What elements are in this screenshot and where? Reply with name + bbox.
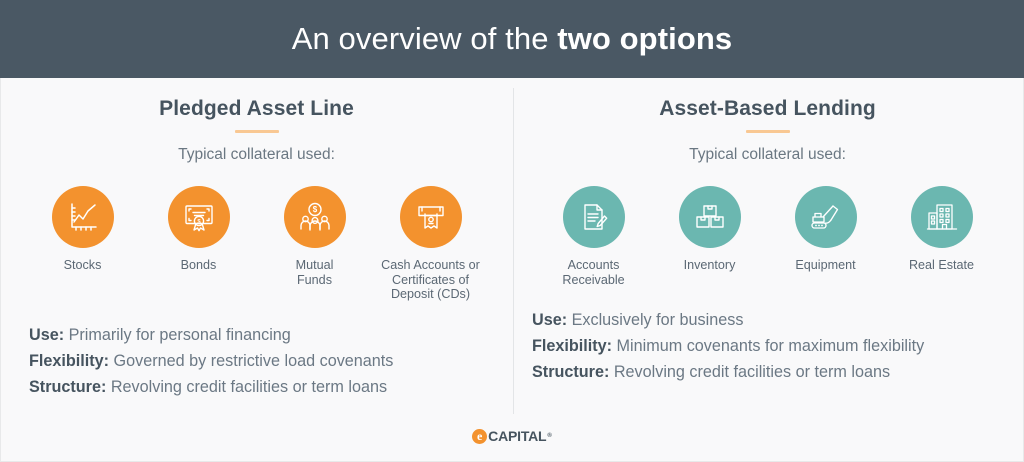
collateral-item-real-estate[interactable]: Real Estate: [884, 186, 1000, 273]
icon-row-right: Accounts Receivable: [512, 186, 1023, 287]
page-title: An overview of the two options: [292, 21, 733, 57]
column-divider: [513, 88, 514, 414]
fact-structure-left: Structure: Revolving credit facilities o…: [29, 374, 502, 400]
column-asset-based-lending: Asset-Based Lending Typical collateral u…: [512, 78, 1023, 400]
real-estate-buildings-icon: [911, 186, 973, 248]
collateral-item-equipment[interactable]: Equipment: [768, 186, 884, 273]
fact-key: Structure:: [29, 378, 106, 396]
collateral-label-inventory: Inventory: [648, 258, 772, 273]
fact-value: Minimum covenants for maximum flexibilit…: [612, 337, 924, 355]
accent-bar-right: [746, 130, 790, 133]
facts-left: Use: Primarily for personal financing Fl…: [1, 322, 512, 400]
fact-flexibility-right: Flexibility: Minimum covenants for maxim…: [532, 333, 1013, 359]
icon-row-left: Stocks $: [1, 186, 512, 302]
header-band: An overview of the two options: [0, 0, 1024, 78]
fact-value: Revolving credit facilities or term loan…: [609, 363, 890, 381]
collateral-item-accounts-receivable[interactable]: Accounts Receivable: [536, 186, 652, 287]
accent-bar-left: [235, 130, 279, 133]
fact-key: Structure:: [532, 363, 609, 381]
collateral-item-stocks[interactable]: Stocks: [25, 186, 141, 273]
fact-key: Flexibility:: [532, 337, 612, 355]
fact-key: Flexibility:: [29, 352, 109, 370]
fact-value: Exclusively for business: [567, 311, 743, 329]
accounts-receivable-document-icon: [563, 186, 625, 248]
ecapital-logo: eCAPITAL®: [472, 428, 552, 444]
inventory-boxes-icon: [679, 186, 741, 248]
collateral-label-equipment: Equipment: [764, 258, 888, 273]
ecapital-logo-trademark: ®: [547, 433, 551, 439]
collateral-label-real-estate: Real Estate: [880, 258, 1004, 273]
column-title-left: Pledged Asset Line: [1, 97, 512, 121]
label-line: Cash Accounts or Certificates of Deposit…: [381, 258, 480, 301]
column-subtitle-left: Typical collateral used:: [1, 146, 512, 164]
page-title-regular: An overview of the: [292, 21, 558, 56]
fact-use-right: Use: Exclusively for business: [532, 307, 1013, 333]
cash-atm-icon: [400, 186, 462, 248]
column-pledged-asset-line: Pledged Asset Line Typical collateral us…: [1, 78, 512, 400]
bonds-certificate-icon: $: [168, 186, 230, 248]
collateral-label-bonds: Bonds: [137, 258, 261, 273]
label-line: Mutual Funds: [296, 258, 334, 287]
fact-value: Primarily for personal financing: [64, 326, 291, 344]
fact-key: Use:: [29, 326, 64, 344]
facts-right: Use: Exclusively for business Flexibilit…: [512, 307, 1023, 385]
column-title-right: Asset-Based Lending: [512, 97, 1023, 121]
ecapital-logo-mark: e: [472, 429, 487, 444]
collateral-label-stocks: Stocks: [21, 258, 145, 273]
columns-wrapper: Pledged Asset Line Typical collateral us…: [1, 78, 1023, 400]
mutual-funds-people-icon: $: [284, 186, 346, 248]
fact-structure-right: Structure: Revolving credit facilities o…: [532, 359, 1013, 385]
collateral-item-inventory[interactable]: Inventory: [652, 186, 768, 273]
page-title-bold: two options: [557, 21, 732, 56]
collateral-label-cash-cds: Cash Accounts or Certificates of Deposit…: [369, 258, 493, 302]
stocks-chart-icon: [52, 186, 114, 248]
label-line: Accounts Receivable: [562, 258, 624, 287]
collateral-label-mutual-funds: Mutual Funds: [253, 258, 377, 287]
fact-use-left: Use: Primarily for personal financing: [29, 322, 502, 348]
collateral-item-bonds[interactable]: $ Bonds: [141, 186, 257, 273]
fact-flexibility-left: Flexibility: Governed by restrictive loa…: [29, 348, 502, 374]
column-subtitle-right: Typical collateral used:: [512, 146, 1023, 164]
infographic-root: An overview of the two options Pledged A…: [0, 0, 1024, 462]
svg-text:$: $: [312, 205, 317, 214]
fact-value: Revolving credit facilities or term loan…: [106, 378, 387, 396]
collateral-label-accounts-receivable: Accounts Receivable: [532, 258, 656, 287]
equipment-excavator-icon: [795, 186, 857, 248]
fact-value: Governed by restrictive load covenants: [109, 352, 393, 370]
ecapital-logo-word: CAPITAL: [488, 428, 546, 444]
collateral-item-mutual-funds[interactable]: $ Mutual Funds: [257, 186, 373, 287]
content-panel: Pledged Asset Line Typical collateral us…: [0, 78, 1024, 462]
footer: eCAPITAL®: [0, 428, 1024, 444]
fact-key: Use:: [532, 311, 567, 329]
collateral-item-cash-cds[interactable]: Cash Accounts or Certificates of Deposit…: [373, 186, 489, 302]
